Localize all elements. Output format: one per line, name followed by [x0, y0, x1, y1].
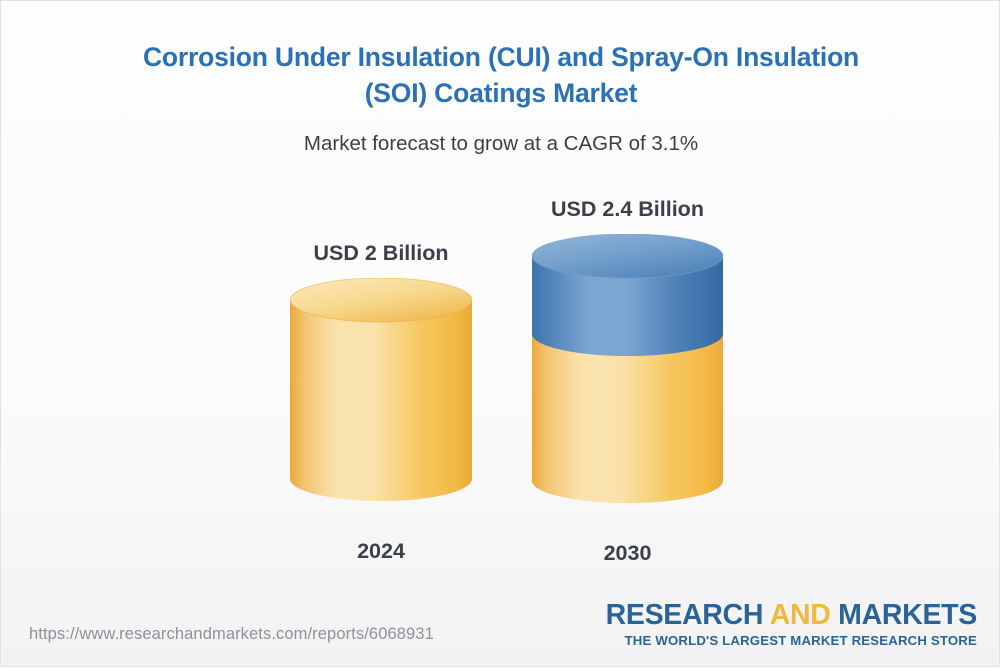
- brand-research-text: RESEARCH: [606, 599, 764, 631]
- research-and-markets-logo[interactable]: RESEARCH AND MARKETS THE WORLD'S LARGEST…: [606, 600, 977, 648]
- cylinder-2030[interactable]: [532, 234, 723, 521]
- bar-category-label-2030: 2030: [532, 541, 723, 566]
- chart-plot-area: USD 2 Billion: [1, 1, 1000, 668]
- bar-value-label-2030: USD 2.4 Billion: [532, 197, 723, 222]
- bar-group-2024: USD 2 Billion: [290, 241, 472, 564]
- brand-and-text: AND: [770, 599, 831, 631]
- bar-category-label-2024: 2024: [290, 539, 472, 564]
- brand-markets-text: MARKETS: [838, 599, 977, 631]
- brand-tagline: THE WORLD'S LARGEST MARKET RESEARCH STOR…: [606, 633, 977, 648]
- bar-group-2030: USD 2.4 Billion: [532, 197, 723, 566]
- brand-wordmark: RESEARCH AND MARKETS: [606, 600, 977, 630]
- cylinder-2024-shape: [290, 278, 472, 519]
- bar-value-label-2024: USD 2 Billion: [290, 241, 472, 266]
- infographic-canvas: Corrosion Under Insulation (CUI) and Spr…: [0, 0, 1000, 667]
- cylinder-2030-shape: [532, 234, 723, 521]
- cylinder-2024[interactable]: [290, 278, 472, 519]
- report-url[interactable]: https://www.researchandmarkets.com/repor…: [29, 625, 434, 644]
